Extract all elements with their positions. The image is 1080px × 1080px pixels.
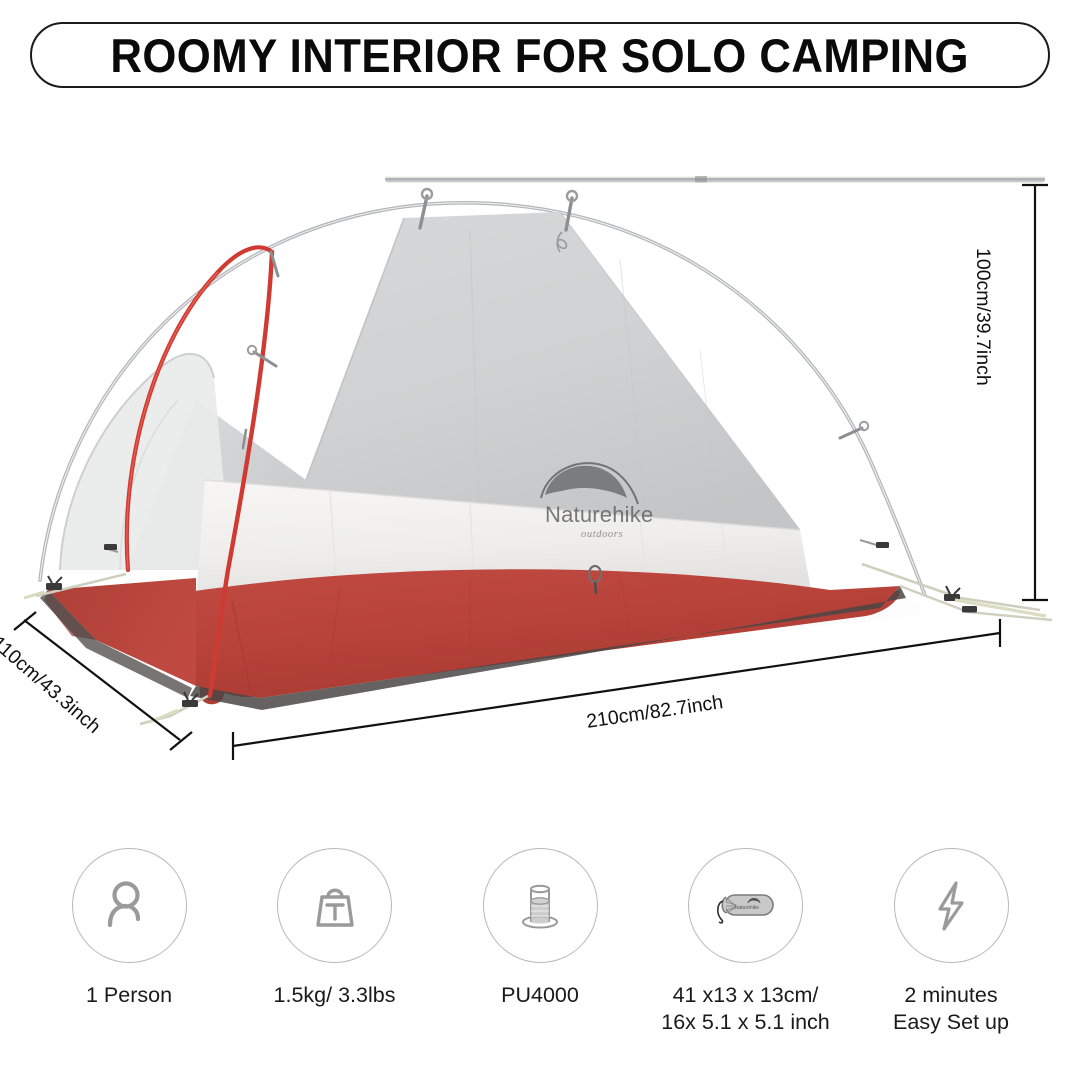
feature-icon-circle [72,848,187,963]
feature-label: PU4000 [501,982,579,1009]
feature-icon-circle [277,848,392,963]
feature-label: 1 Person [86,982,172,1009]
feature-label: 41 x13 x 13cm/ 16x 5.1 x 5.1 inch [661,982,830,1036]
person-icon [98,875,160,937]
lightning-icon [920,875,982,937]
svg-text:Naturehike: Naturehike [734,905,758,911]
feature-icon-circle [483,848,598,963]
dimension-label-height: 100cm/39.7inch [971,248,994,386]
feature-icon-circle [894,848,1009,963]
feature-item-capacity: 1 Person [36,848,222,1009]
water-column-icon [509,875,571,937]
brand-name: Naturehike [545,502,653,527]
stuff-sack-icon: Naturehike [709,875,783,937]
feature-label: 2 minutes Easy Set up [893,982,1009,1036]
dimension-line-height [1022,185,1048,600]
weight-bag-icon [304,875,366,937]
product-infographic: ROOMY INTERIOR FOR SOLO CAMPING [0,0,1080,1080]
feature-item-setup-time: 2 minutes Easy Set up [858,848,1044,1036]
ridge-pole [385,176,1045,183]
feature-item-packed-size: Naturehike 41 x13 x 13cm/ 16x 5.1 x 5.1 … [653,848,839,1036]
title-banner: ROOMY INTERIOR FOR SOLO CAMPING [30,22,1050,88]
feature-icon-circle: Naturehike [688,848,803,963]
feature-item-waterproof: PU4000 [447,848,633,1009]
page-title: ROOMY INTERIOR FOR SOLO CAMPING [111,28,970,83]
feature-strip: 1 Person 1.5kg/ 3.3lbs [0,848,1080,1080]
feature-label: 1.5kg/ 3.3lbs [274,982,396,1009]
brand-subtitle: outdoors [581,529,623,540]
feature-item-weight: 1.5kg/ 3.3lbs [242,848,428,1009]
tent-product-image: Naturehike outdoors [0,100,1080,840]
tent-red-floor [40,569,906,710]
